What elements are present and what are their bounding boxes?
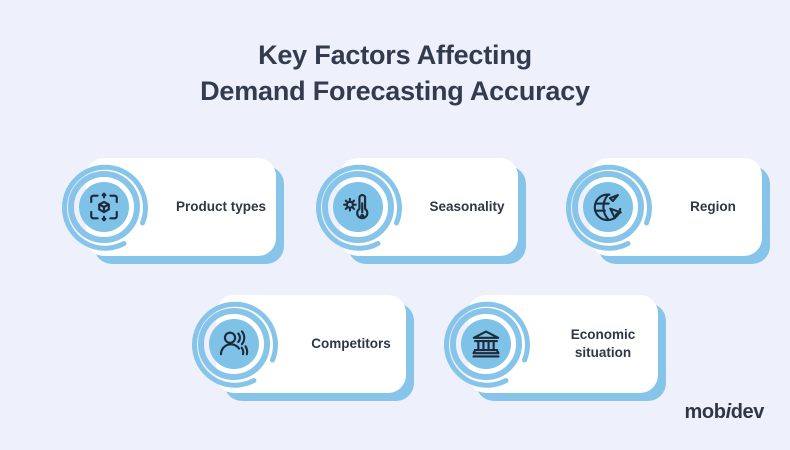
logo-prefix: mob — [685, 401, 726, 423]
mobidev-logo: mobidev — [685, 401, 764, 424]
people-group-icon — [182, 292, 286, 396]
logo-suffix: dev — [731, 401, 764, 423]
factor-card-label: Economic situation — [554, 295, 652, 393]
factor-card-product-types[interactable]: Product types — [86, 158, 276, 256]
product-box-scan-icon — [52, 155, 156, 259]
factor-card-label: Region — [670, 158, 756, 256]
globe-cursor-icon — [556, 155, 660, 259]
bank-building-icon-badge — [434, 292, 538, 396]
factor-card-label: Seasonality — [422, 158, 512, 256]
globe-cursor-icon-badge — [556, 155, 660, 259]
factor-card-label: Product types — [172, 158, 270, 256]
bank-building-icon — [434, 292, 538, 396]
page-title-line-2: Demand Forecasting Accuracy — [0, 74, 790, 110]
factor-card-competitors[interactable]: Competitors — [216, 295, 406, 393]
factor-card-economic-situation[interactable]: Economic situation — [468, 295, 658, 393]
people-group-icon-badge — [182, 292, 286, 396]
factor-card-region[interactable]: Region — [590, 158, 762, 256]
page-title: Key Factors Affecting Demand Forecasting… — [0, 38, 790, 109]
page-title-line-1: Key Factors Affecting — [0, 38, 790, 74]
product-box-scan-icon-badge — [52, 155, 156, 259]
factor-card-seasonality[interactable]: Seasonality — [340, 158, 518, 256]
thermometer-sun-icon — [306, 155, 410, 259]
thermometer-sun-icon-badge — [306, 155, 410, 259]
factor-card-label: Competitors — [302, 295, 400, 393]
